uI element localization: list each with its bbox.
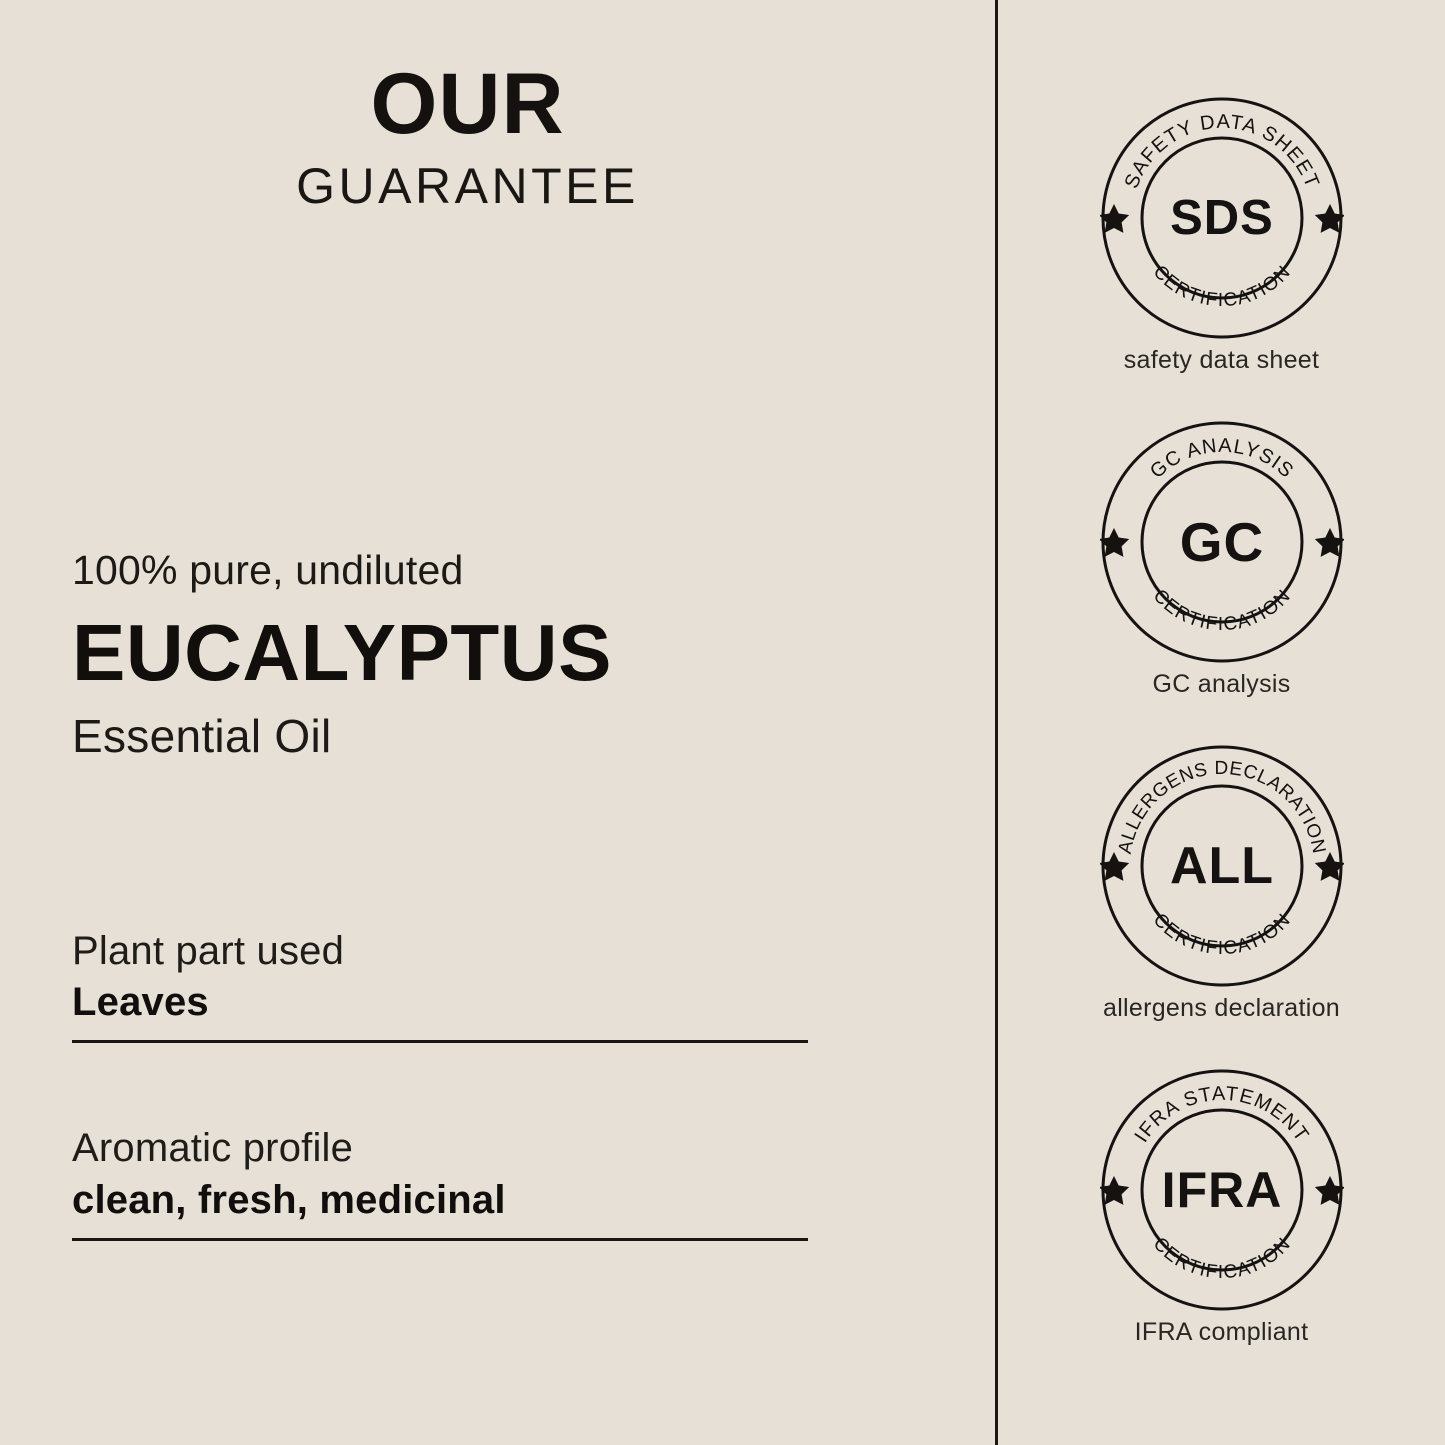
product-name: EUCALYPTUS bbox=[72, 613, 932, 693]
certification-seal-icon: SAFETY DATA SHEET CERTIFICATION SDS bbox=[1100, 96, 1344, 340]
left-panel: OUR GUARANTEE 100% pure, undiluted EUCAL… bbox=[0, 0, 995, 1445]
seal-bottom-text: CERTIFICATION bbox=[1148, 261, 1295, 311]
seal-abbreviation: IFRA bbox=[1161, 1162, 1282, 1218]
seal-top-text: IFRA STATEMENT bbox=[1130, 1083, 1313, 1147]
certification-badge: ALLERGENS DECLARATION CERTIFICATION ALL … bbox=[998, 744, 1445, 1023]
attribute-value: clean, fresh, medicinal bbox=[72, 1177, 808, 1224]
certification-caption: IFRA compliant bbox=[998, 1318, 1445, 1347]
seal-abbreviation: SDS bbox=[1170, 191, 1274, 245]
certifications-panel: SAFETY DATA SHEET CERTIFICATION SDS safe… bbox=[998, 0, 1445, 1445]
certification-badge: GC ANALYSIS CERTIFICATION GC GC analysis bbox=[998, 420, 1445, 699]
certification-caption: GC analysis bbox=[998, 670, 1445, 699]
product-type: Essential Oil bbox=[72, 711, 932, 762]
attribute-row: Plant part used Leaves bbox=[72, 928, 808, 1043]
certification-caption: allergens declaration bbox=[998, 994, 1445, 1023]
seal-bottom-text: CERTIFICATION bbox=[1148, 909, 1295, 959]
guarantee-infographic: OUR GUARANTEE 100% pure, undiluted EUCAL… bbox=[0, 0, 1445, 1445]
attribute-label: Plant part used bbox=[72, 928, 808, 975]
attribute-value: Leaves bbox=[72, 979, 808, 1026]
page-title-main: OUR bbox=[0, 62, 935, 146]
attribute-row: Aromatic profile clean, fresh, medicinal bbox=[72, 1125, 808, 1240]
certification-seal-icon: ALLERGENS DECLARATION CERTIFICATION ALL bbox=[1100, 744, 1344, 988]
seal-abbreviation: ALL bbox=[1169, 837, 1273, 895]
seal-top-text: GC ANALYSIS bbox=[1146, 435, 1298, 483]
seal-bottom-text: CERTIFICATION bbox=[1148, 1233, 1295, 1283]
attribute-label: Aromatic profile bbox=[72, 1125, 808, 1172]
certification-caption: safety data sheet bbox=[998, 346, 1445, 375]
product-attributes: Plant part used Leaves Aromatic profile … bbox=[72, 928, 808, 1241]
certification-badge: IFRA STATEMENT CERTIFICATION IFRA IFRA c… bbox=[998, 1068, 1445, 1347]
seal-bottom-text: CERTIFICATION bbox=[1148, 585, 1295, 635]
product-identity: 100% pure, undiluted EUCALYPTUS Essentia… bbox=[72, 548, 932, 762]
certification-seal-icon: GC ANALYSIS CERTIFICATION GC bbox=[1100, 420, 1344, 664]
product-purity-label: 100% pure, undiluted bbox=[72, 548, 932, 593]
page-title: OUR GUARANTEE bbox=[0, 62, 935, 213]
seal-abbreviation: GC bbox=[1179, 511, 1264, 573]
certification-seal-icon: IFRA STATEMENT CERTIFICATION IFRA bbox=[1100, 1068, 1344, 1312]
certification-badge: SAFETY DATA SHEET CERTIFICATION SDS safe… bbox=[998, 96, 1445, 375]
page-title-sub: GUARANTEE bbox=[0, 160, 935, 213]
